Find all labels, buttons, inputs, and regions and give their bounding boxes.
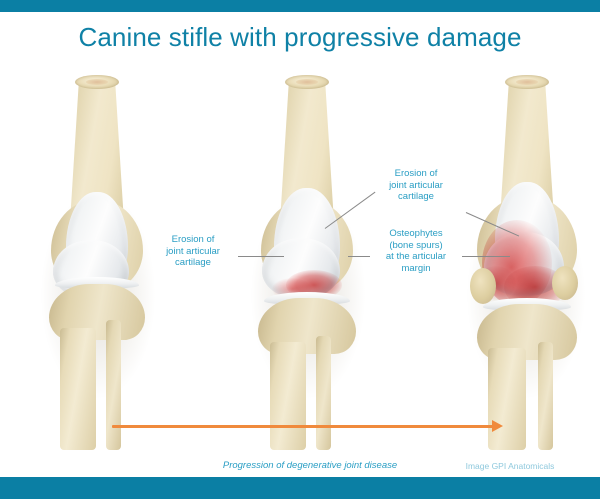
fibula [316, 336, 331, 450]
fibula [106, 320, 121, 450]
specimen-moderate-damage-stifle [232, 70, 382, 450]
specimen-severe-damage-stifle [452, 70, 600, 450]
bottom-accent-bar [0, 477, 600, 499]
articular-cartilage-medial [262, 238, 340, 298]
specimen-normal-stifle [22, 70, 172, 450]
image-credit: Image GPI Anatomicals [430, 461, 590, 471]
page-title: Canine stifle with progressive damage [0, 22, 600, 53]
progression-caption: Progression of degenerative joint diseas… [180, 460, 440, 471]
annotation-osteophytes: Osteophytes (bone spurs) at the articula… [368, 228, 464, 274]
tibia-shaft [488, 348, 526, 450]
tibia-shaft [270, 342, 306, 450]
top-accent-bar [0, 0, 600, 12]
annotation-erosion-right: Erosion of joint articular cartilage [372, 168, 460, 203]
fibula [538, 342, 553, 450]
osteophyte-bone-spur-lateral [470, 268, 496, 304]
osteophyte-bone-spur-medial [552, 266, 578, 300]
progression-arrow-head-icon [492, 420, 503, 432]
femur-cut-surface [285, 75, 329, 89]
femur-cut-surface [505, 75, 549, 89]
annotation-erosion-left: Erosion of joint articular cartilage [152, 234, 234, 269]
tibia-shaft [60, 328, 96, 450]
poster-canvas: Canine stifle with progressive damage [0, 0, 600, 499]
leader-line-osteophytes-left [348, 256, 370, 257]
progression-arrow-line [112, 425, 494, 428]
leader-line-osteophytes-right [462, 256, 510, 257]
femur-cut-surface [75, 75, 119, 89]
leader-line-erosion-left [238, 256, 284, 257]
